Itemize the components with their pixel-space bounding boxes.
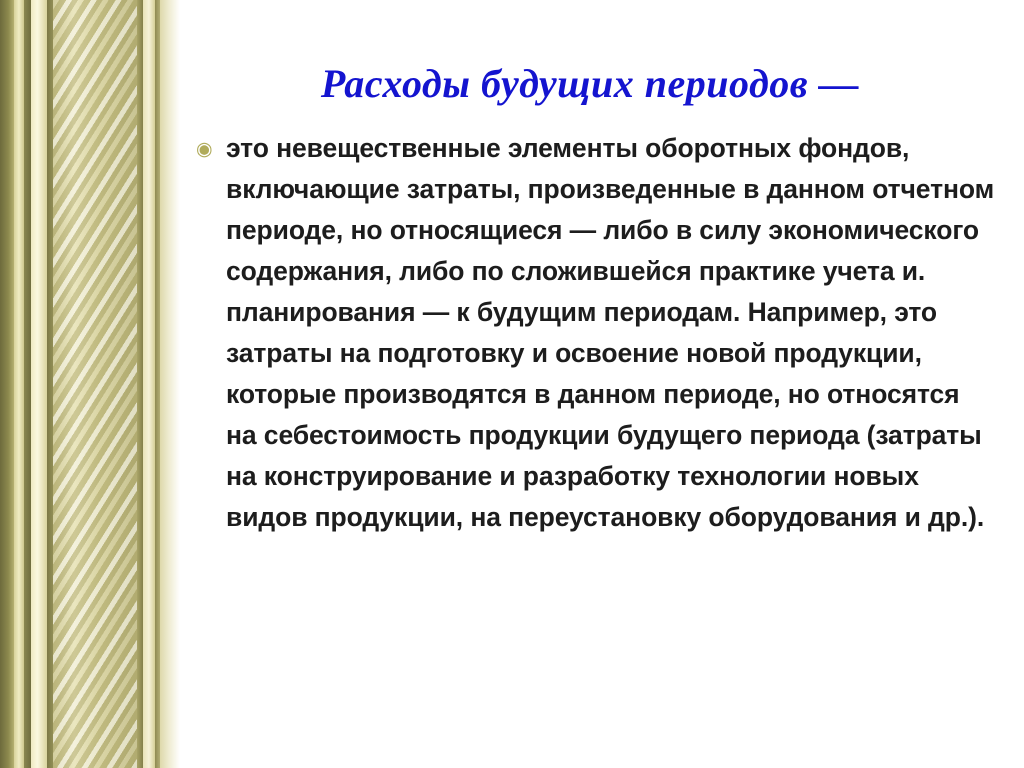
bullet-item-text: это невещественные элементы оборотных фо…: [226, 128, 996, 538]
band-fade-to-white: [160, 0, 180, 768]
slide-canvas: Расходы будущих периодов — ◉ это невещес…: [0, 0, 1024, 768]
slide-body: ◉ это невещественные элементы оборотных …: [196, 128, 996, 538]
band-edge-dark-1: [0, 0, 14, 768]
band-woven-panel: [53, 0, 137, 768]
bullet-point-icon: ◉: [196, 128, 226, 159]
decorative-left-band: [0, 0, 180, 768]
band-stripe-light-3: [143, 0, 155, 768]
band-stripe-light-1: [14, 0, 24, 768]
slide-title: Расходы будущих периодов —: [175, 60, 1005, 107]
bullet-list-item: ◉ это невещественные элементы оборотных …: [196, 128, 996, 538]
band-stripe-light-2: [31, 0, 47, 768]
band-edge-dark-2: [24, 0, 31, 768]
